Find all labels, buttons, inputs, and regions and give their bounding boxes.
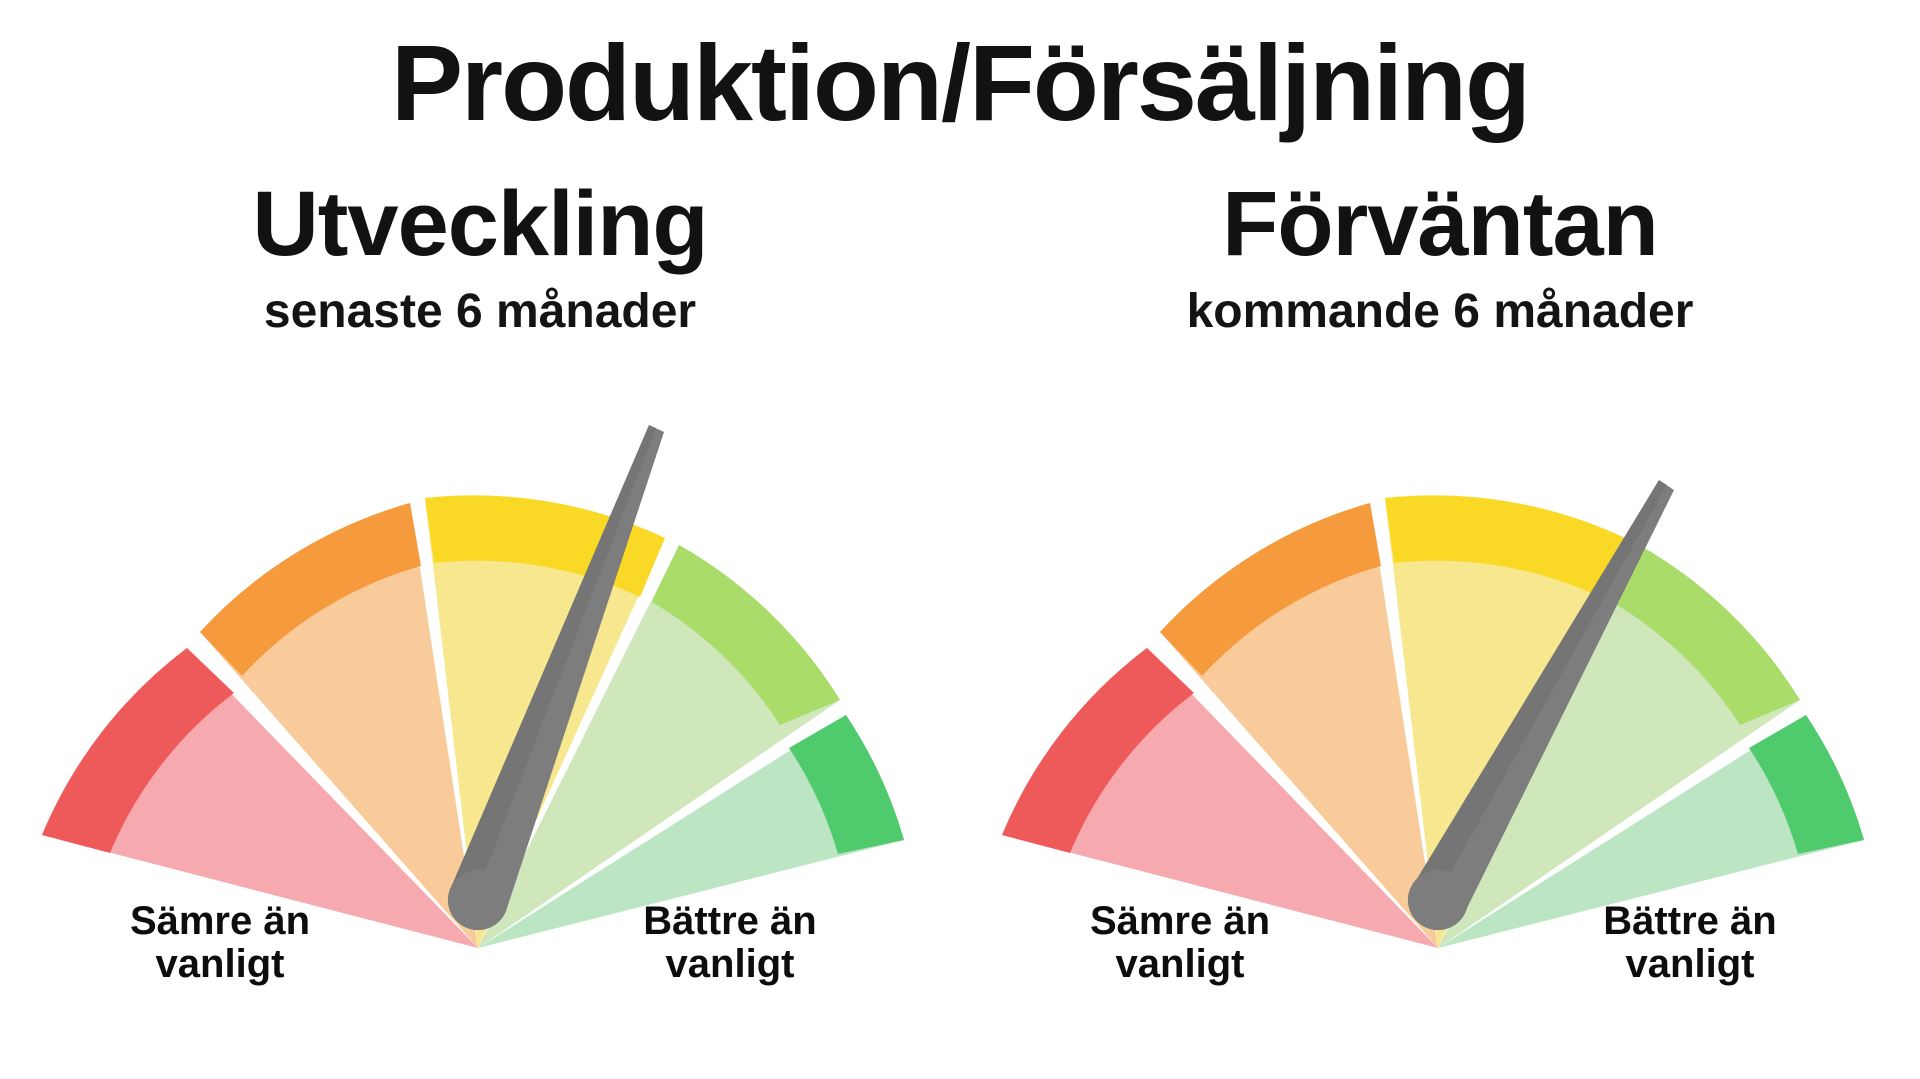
panel-subheading-forvantan: kommande 6 månader: [960, 288, 1920, 336]
label-better-utveckling: Bättre än vanligt: [570, 900, 890, 986]
needle-pivot: [1408, 870, 1468, 930]
panel-utveckling: Utveckling senaste 6 månader: [0, 0, 960, 1079]
label-better-line2: vanligt: [1530, 943, 1850, 986]
label-better-line1: Bättre än: [643, 899, 816, 943]
label-worse-line1: Sämre än: [1090, 899, 1270, 943]
gauge-svg-utveckling: [20, 370, 940, 970]
label-better-line1: Bättre än: [1603, 899, 1776, 943]
label-better-forvantan: Bättre än vanligt: [1530, 900, 1850, 986]
panel-heading-forvantan: Förväntan: [960, 178, 1920, 270]
panel-subheading-utveckling: senaste 6 månader: [0, 288, 960, 336]
panel-forvantan: Förväntan kommande 6 månader: [960, 0, 1920, 1079]
gauge-utveckling: [20, 370, 940, 970]
label-worse-line2: vanligt: [1020, 943, 1340, 986]
label-worse-line1: Sämre än: [130, 899, 310, 943]
label-worse-forvantan: Sämre än vanligt: [1020, 900, 1340, 986]
gauge-forvantan: [980, 370, 1900, 970]
panel-heading-utveckling: Utveckling: [0, 178, 960, 270]
label-worse-utveckling: Sämre än vanligt: [60, 900, 380, 986]
gauge-svg-forvantan: [980, 370, 1900, 970]
needle-pivot: [448, 870, 508, 930]
label-better-line2: vanligt: [570, 943, 890, 986]
label-worse-line2: vanligt: [60, 943, 380, 986]
infographic-root: Produktion/Försäljning Utveckling senast…: [0, 0, 1920, 1079]
